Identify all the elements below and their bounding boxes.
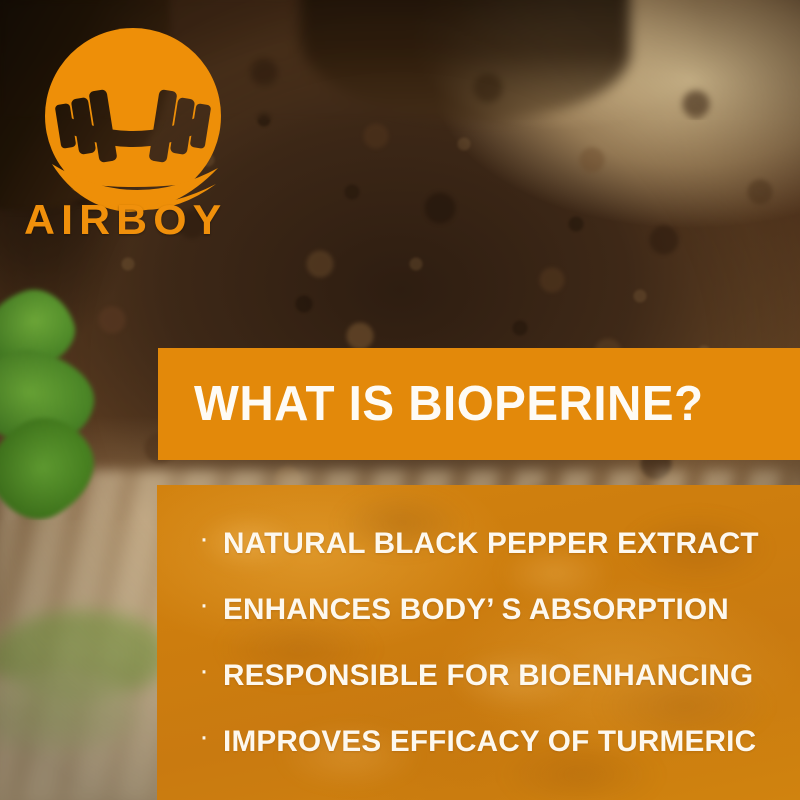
list-item: · IMPROVES EFFICACY OF TURMERIC <box>199 725 800 791</box>
list-item: · ENHANCES BODY’ S ABSORPTION <box>199 593 800 659</box>
benefits-panel: · NATURAL BLACK PEPPER EXTRACT · ENHANCE… <box>157 485 800 800</box>
list-item: · RESPONSIBLE FOR BIOENHANCING <box>199 659 800 725</box>
bullet-point-icon: · <box>199 590 209 620</box>
list-item-label: RESPONSIBLE FOR BIOENHANCING <box>223 659 753 693</box>
brand-name: AIRBOY <box>24 196 227 244</box>
list-item-label: NATURAL BLACK PEPPER EXTRACT <box>223 527 759 561</box>
bullet-point-icon: · <box>199 524 209 554</box>
product-infographic: AIRBOY WHAT IS BIOPERINE? · NATURAL BLAC… <box>0 0 800 800</box>
list-item-label: ENHANCES BODY’ S ABSORPTION <box>223 593 729 627</box>
list-item-label: IMPROVES EFFICACY OF TURMERIC <box>223 725 756 759</box>
page-title: WHAT IS BIOPERINE? <box>194 376 704 432</box>
list-item: · NATURAL BLACK PEPPER EXTRACT <box>199 527 800 593</box>
bullet-point-icon: · <box>199 656 209 686</box>
benefits-list: · NATURAL BLACK PEPPER EXTRACT · ENHANCE… <box>157 485 800 800</box>
title-banner: WHAT IS BIOPERINE? <box>158 348 800 460</box>
bullet-point-icon: · <box>199 722 209 752</box>
